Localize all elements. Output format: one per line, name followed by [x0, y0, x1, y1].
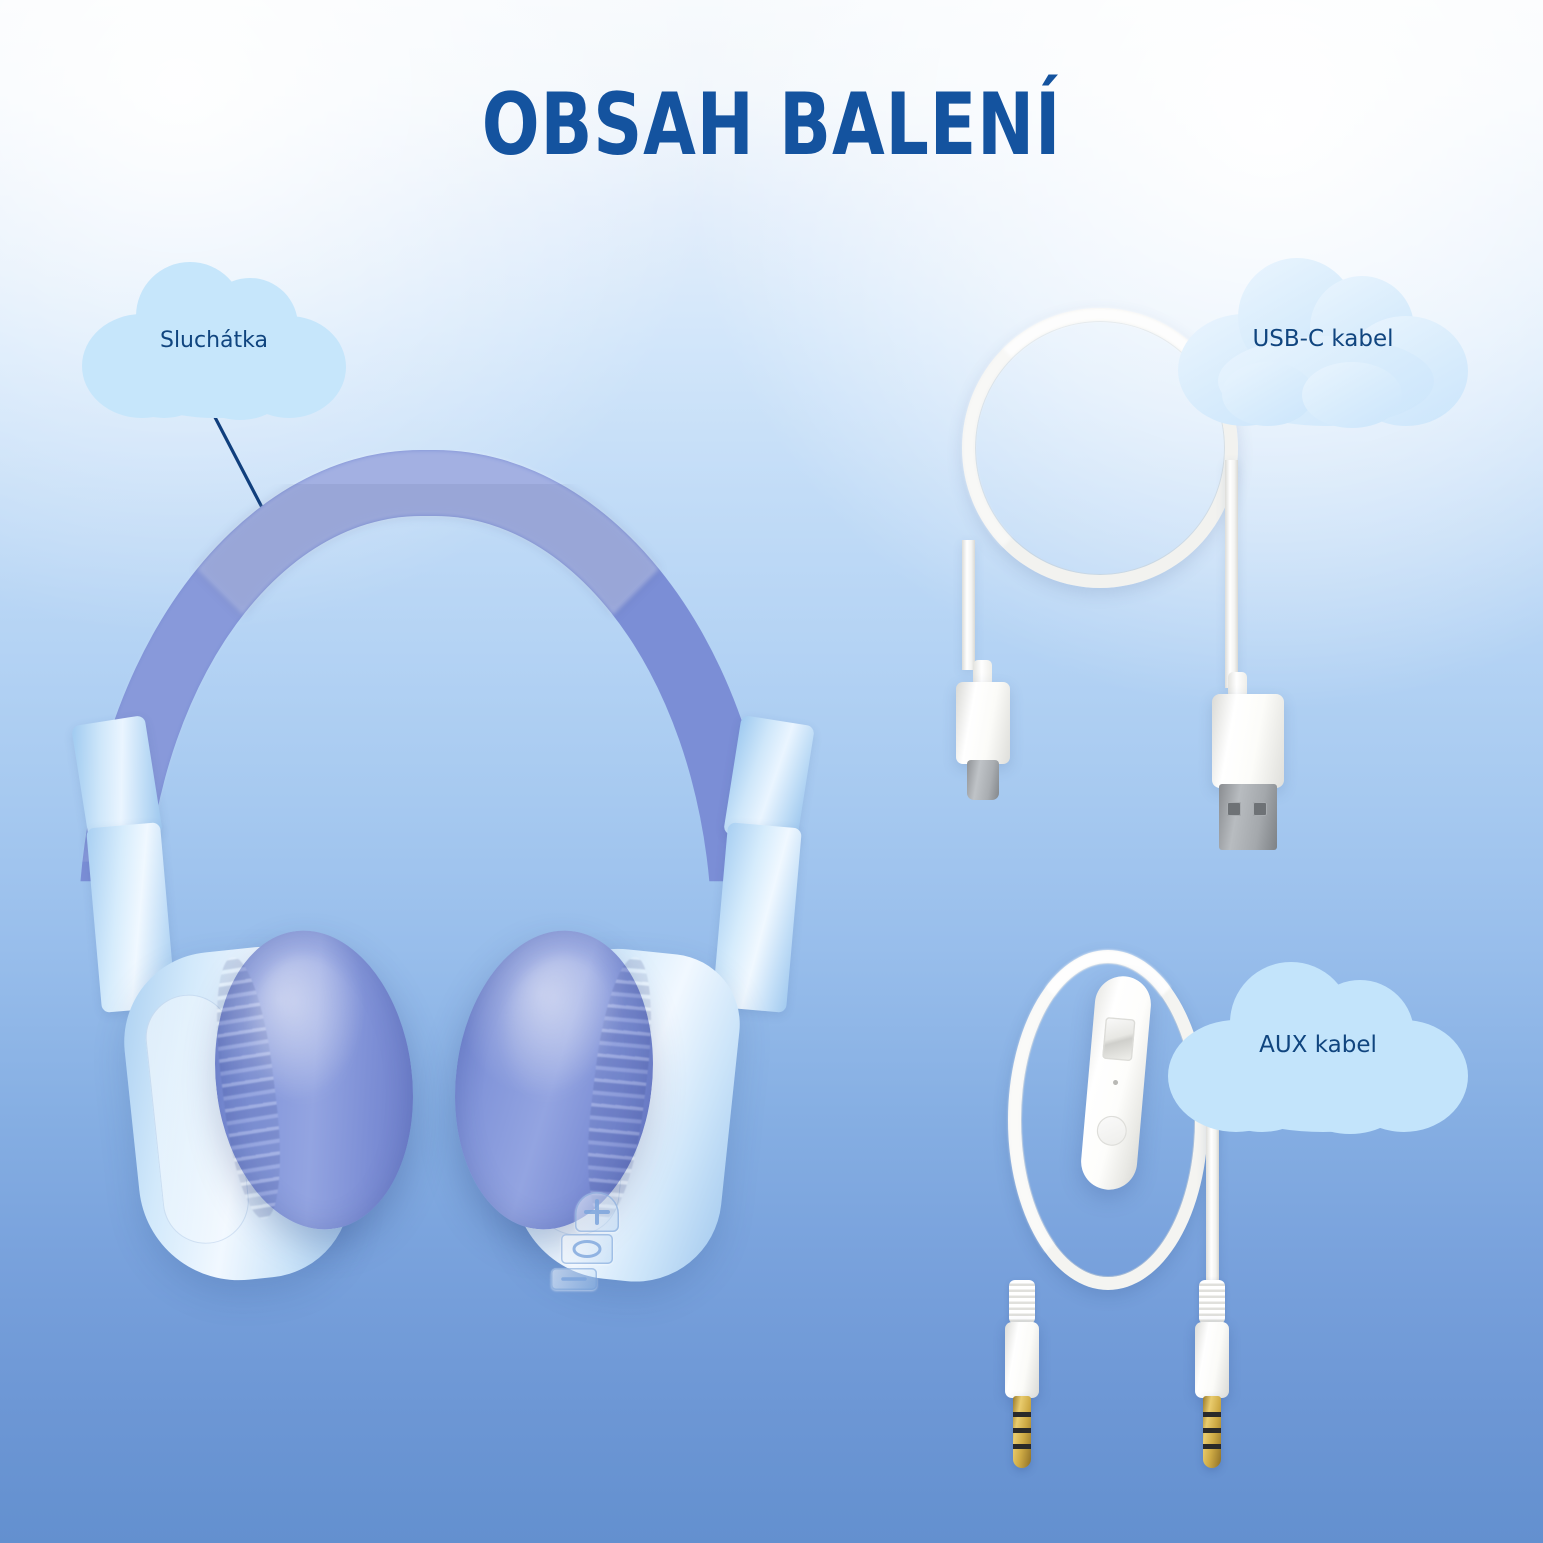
label-text-aux: AUX kabel — [1168, 1032, 1468, 1058]
power-icon — [561, 1234, 613, 1264]
volume-down-button[interactable] — [551, 1268, 597, 1290]
jack-ring — [1203, 1444, 1221, 1449]
volume-up-button[interactable] — [575, 1192, 619, 1232]
jack-ring — [1203, 1428, 1221, 1433]
jack-strain-relief — [1009, 1280, 1035, 1324]
infographic-canvas: OBSAH BALENÍ — [0, 0, 1543, 1543]
jack-ring — [1203, 1412, 1221, 1417]
jack-ring — [1013, 1412, 1031, 1417]
connector-shell — [956, 682, 1010, 764]
connector-shell — [1212, 694, 1284, 788]
multifunction-button[interactable] — [1096, 1115, 1129, 1148]
usb-c-connector — [940, 660, 1030, 810]
headphone-control-cluster — [545, 1190, 665, 1310]
jack-barrel — [1195, 1322, 1229, 1398]
usb-c-tip — [967, 760, 999, 800]
headphones-product-image — [20, 430, 820, 1370]
cable-strand-right — [1225, 460, 1238, 688]
label-cloud-aux: AUX kabel — [1168, 962, 1468, 1132]
plus-icon — [575, 1192, 619, 1232]
jack-ring — [1013, 1444, 1031, 1449]
aux-jack-right — [1190, 1280, 1234, 1470]
volume-rocker[interactable] — [1102, 1017, 1136, 1061]
jack-ring — [1013, 1428, 1031, 1433]
usb-contact — [1253, 802, 1267, 816]
minus-icon — [551, 1268, 597, 1290]
usb-a-connector — [1202, 672, 1312, 852]
cable-strand-left — [962, 540, 975, 670]
usb-contact — [1227, 802, 1241, 816]
usb-a-tip — [1219, 784, 1277, 850]
jack-barrel — [1005, 1322, 1039, 1398]
aux-jack-left — [1000, 1280, 1044, 1470]
microphone-icon — [1113, 1080, 1118, 1085]
power-play-button[interactable] — [561, 1234, 613, 1264]
label-cloud-usbc: USB-C kabel — [1178, 258, 1468, 426]
label-text-usbc: USB-C kabel — [1178, 326, 1468, 352]
jack-strain-relief — [1199, 1280, 1225, 1324]
page-title: OBSAH BALENÍ — [93, 82, 1451, 168]
label-text-headphones: Sluchátka — [82, 328, 346, 353]
label-cloud-headphones: Sluchátka — [82, 262, 346, 418]
headband-highlight — [78, 450, 778, 1430]
